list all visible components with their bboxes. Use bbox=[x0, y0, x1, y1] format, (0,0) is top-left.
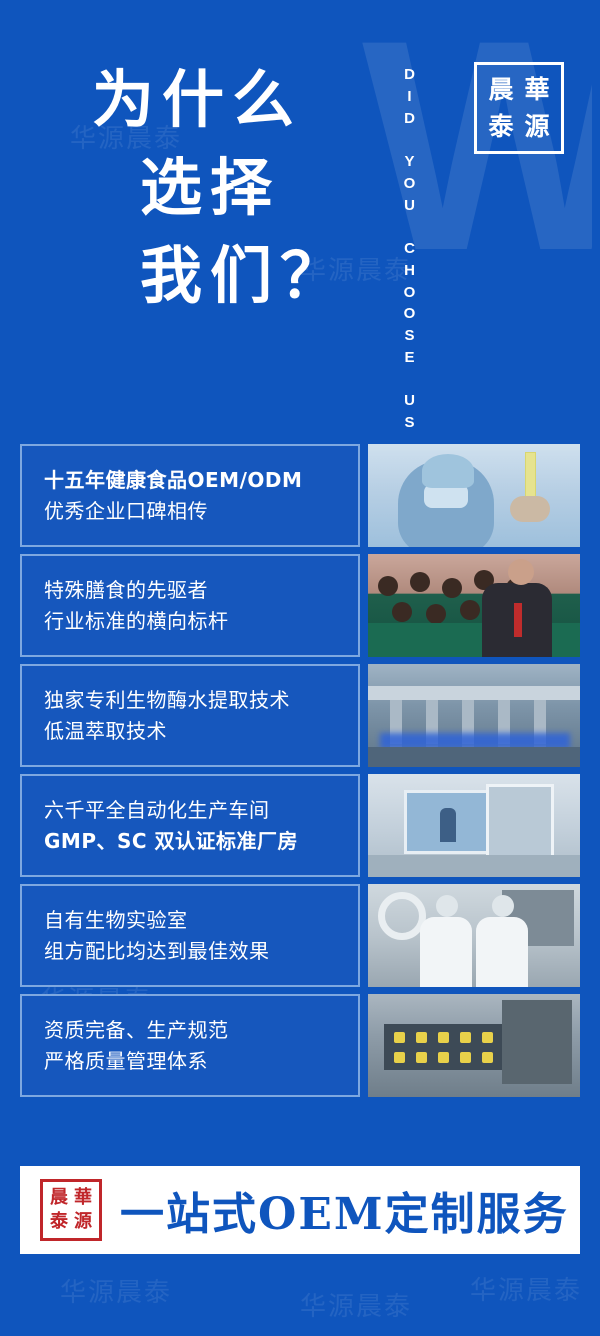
feature-line-2: GMP、SC 双认证标准厂房 bbox=[44, 826, 358, 857]
list-item: 自有生物实验室 组方配比均达到最佳效果 bbox=[20, 884, 580, 987]
feature-text-2: 特殊膳食的先驱者 行业标准的横向标杆 bbox=[20, 554, 360, 657]
logo-char-3: 泰 bbox=[488, 114, 513, 139]
poster-root: W 华源晨泰 华源晨泰 华源晨泰 华源晨泰 为什么 选择 我们？ DID YOU… bbox=[0, 0, 600, 1336]
feature-line-1: 资质完备、生产规范 bbox=[44, 1015, 358, 1046]
feature-line-1: 独家专利生物酶水提取技术 bbox=[44, 685, 358, 716]
feature-list: 十五年健康食品OEM/ODM 优秀企业口碑相传 特殊膳食的先驱者 行业标准的横向… bbox=[20, 444, 580, 1104]
feature-text-4: 六千平全自动化生产车间 GMP、SC 双认证标准厂房 bbox=[20, 774, 360, 877]
blister-packing-photo bbox=[368, 994, 580, 1097]
watermark-seal: 华源晨泰 bbox=[470, 1270, 582, 1307]
feature-line-1: 自有生物实验室 bbox=[44, 905, 358, 936]
bottom-watermark-band: 华源晨泰 华源晨泰 华源晨泰 bbox=[0, 1262, 600, 1336]
footer-slogan: 一站式OEM定制服务 bbox=[120, 1178, 569, 1242]
feature-text-1: 十五年健康食品OEM/ODM 优秀企业口碑相传 bbox=[20, 444, 360, 547]
page-title: 为什么 选择 我们？ bbox=[92, 56, 382, 320]
feature-line-2: 优秀企业口碑相传 bbox=[44, 496, 358, 527]
logo-char-2: 華 bbox=[524, 77, 549, 102]
footer-logo-seal: 晨 華 泰 源 bbox=[40, 1179, 102, 1241]
list-item: 资质完备、生产规范 严格质量管理体系 bbox=[20, 994, 580, 1097]
feature-line-2: 低温萃取技术 bbox=[44, 716, 358, 747]
conference-audience-photo bbox=[368, 554, 580, 657]
feature-line-1: 十五年健康食品OEM/ODM bbox=[44, 465, 358, 496]
footer-logo-char-4: 源 bbox=[74, 1213, 92, 1231]
footer-banner: 晨 華 泰 源 一站式OEM定制服务 bbox=[20, 1166, 580, 1254]
laboratory-workers-photo bbox=[368, 884, 580, 987]
feature-line-2: 行业标准的横向标杆 bbox=[44, 606, 358, 637]
headline-line-1: 为什么 bbox=[92, 56, 382, 144]
footer-logo-char-2: 華 bbox=[74, 1189, 92, 1207]
feature-line-1: 特殊膳食的先驱者 bbox=[44, 575, 358, 606]
logo-char-4: 源 bbox=[524, 114, 549, 139]
watermark-seal: 华源晨泰 bbox=[60, 1272, 172, 1309]
brand-logo-seal: 晨 華 泰 源 bbox=[474, 62, 564, 154]
filling-machine-photo bbox=[368, 664, 580, 767]
feature-line-2: 组方配比均达到最佳效果 bbox=[44, 936, 358, 967]
feature-text-5: 自有生物实验室 组方配比均达到最佳效果 bbox=[20, 884, 360, 987]
feature-line-2: 严格质量管理体系 bbox=[44, 1046, 358, 1077]
feature-text-6: 资质完备、生产规范 严格质量管理体系 bbox=[20, 994, 360, 1097]
footer-logo-char-3: 泰 bbox=[50, 1213, 68, 1231]
clean-room-photo bbox=[368, 774, 580, 877]
poster-header: 为什么 选择 我们？ DID YOU CHOOSE US 晨 華 泰 源 bbox=[0, 34, 600, 424]
watermark-seal: 华源晨泰 bbox=[300, 1286, 412, 1323]
vertical-english-caption: DID YOU CHOOSE US bbox=[398, 64, 422, 434]
headline-line-3: 我们？ bbox=[92, 232, 382, 320]
logo-char-1: 晨 bbox=[488, 77, 513, 102]
list-item: 独家专利生物酶水提取技术 低温萃取技术 bbox=[20, 664, 580, 767]
list-item: 六千平全自动化生产车间 GMP、SC 双认证标准厂房 bbox=[20, 774, 580, 877]
list-item: 十五年健康食品OEM/ODM 优秀企业口碑相传 bbox=[20, 444, 580, 547]
lab-technician-photo bbox=[368, 444, 580, 547]
headline-line-2: 选择 bbox=[92, 144, 382, 232]
footer-logo-char-1: 晨 bbox=[50, 1189, 68, 1207]
feature-line-1: 六千平全自动化生产车间 bbox=[44, 795, 358, 826]
list-item: 特殊膳食的先驱者 行业标准的横向标杆 bbox=[20, 554, 580, 657]
feature-text-3: 独家专利生物酶水提取技术 低温萃取技术 bbox=[20, 664, 360, 767]
